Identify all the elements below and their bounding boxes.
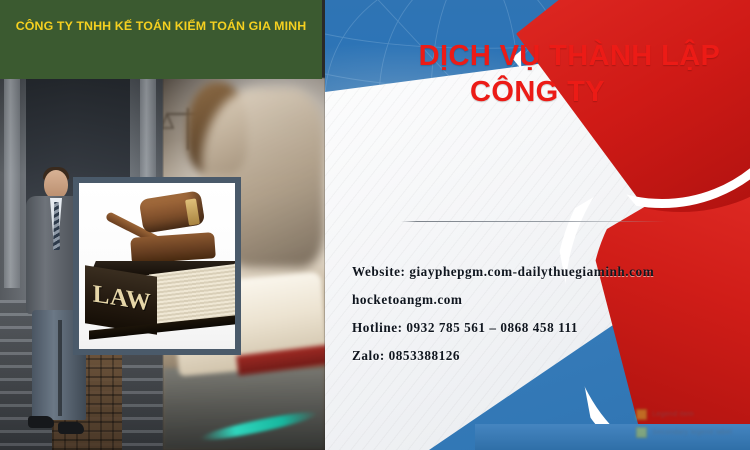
banner-root: CÔNG TY TNHH KẾ TOÁN KIỂM TOÁN GIA MINH … bbox=[0, 0, 750, 450]
head bbox=[44, 170, 68, 199]
website-line-1: Website: giayphepgm.com-dailythuegiaminh… bbox=[352, 258, 654, 286]
headline-line-1: DỊCH VỤ THÀNH LẬP bbox=[389, 38, 750, 74]
legend-row: Legend item bbox=[636, 409, 732, 420]
desk-surface bbox=[163, 368, 325, 450]
law-book: LAW bbox=[85, 261, 237, 333]
hotline-line: Hotline: 0932 785 561 – 0868 458 111 bbox=[352, 314, 654, 342]
legend-swatch-icon bbox=[636, 409, 647, 420]
photo-collage: CÔNG TY TNHH KẾ TOÁN KIỂM TOÁN GIA MINH … bbox=[0, 0, 325, 450]
faint-legend-watermark: Legend item Secondary legend label bbox=[636, 402, 732, 438]
headline-line-2: CÔNG TY bbox=[325, 74, 750, 110]
legend-row-label: Secondary legend label bbox=[652, 429, 732, 436]
zalo-line: Zalo: 0853388126 bbox=[352, 342, 654, 370]
law-book-with-gavel-photo: LAW bbox=[73, 177, 241, 355]
horizontal-divider bbox=[401, 221, 666, 222]
website-line-2: hocketoangm.com bbox=[352, 286, 654, 314]
company-header-bar: CÔNG TY TNHH KẾ TOÁN KIỂM TOÁN GIA MINH bbox=[0, 0, 322, 79]
contact-information-block: Website: giayphepgm.com-dailythuegiaminh… bbox=[352, 258, 654, 370]
legend-row-label: Legend item bbox=[652, 411, 694, 418]
company-name-text: CÔNG TY TNHH KẾ TOÁN KIỂM TOÁN GIA MINH bbox=[0, 19, 322, 33]
leg-separation bbox=[58, 320, 62, 416]
right-design-panel: DỊCH VỤ THÀNH LẬP CÔNG TY Website: giayp… bbox=[325, 0, 750, 450]
gavel-sound-block bbox=[130, 232, 216, 264]
legend-swatch-icon bbox=[636, 427, 647, 438]
legend-row: Secondary legend label bbox=[636, 427, 732, 438]
photo-background: LAW bbox=[79, 183, 235, 349]
headline-block: DỊCH VỤ THÀNH LẬP CÔNG TY bbox=[325, 38, 750, 110]
shoe bbox=[58, 422, 84, 434]
shoe bbox=[28, 416, 54, 428]
